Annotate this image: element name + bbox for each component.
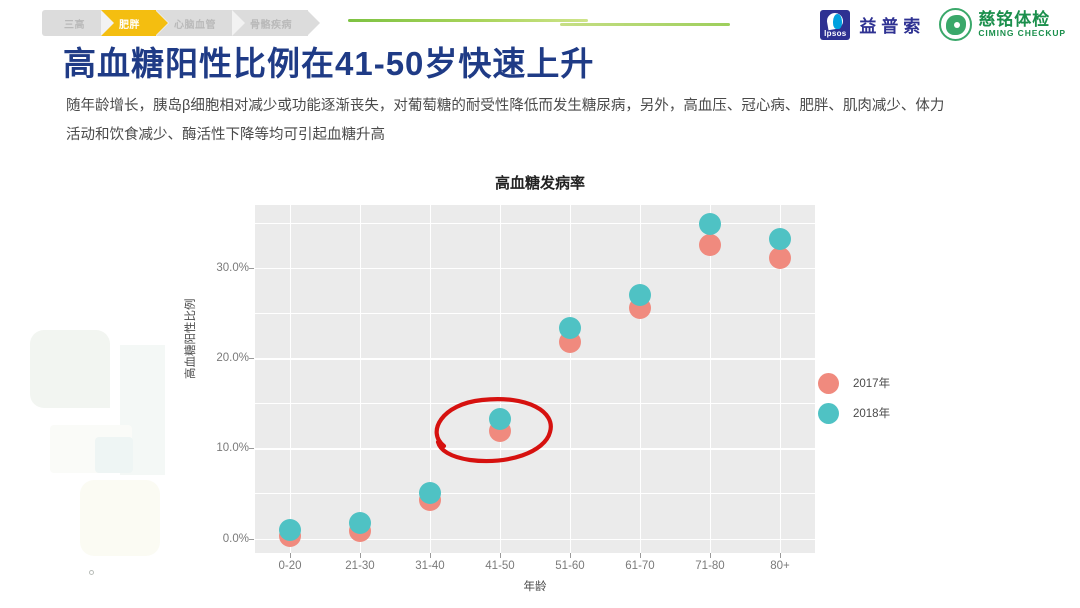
- chart-y-axis-title: 高血糖阳性比例: [182, 299, 198, 380]
- chart-point: [769, 228, 791, 250]
- chart-point: [559, 317, 581, 339]
- breadcrumb-green-tail: [348, 19, 588, 22]
- chart-x-tick-mark: [290, 553, 291, 558]
- ciming-text-block: 慈铭体检 CIMING CHECKUP: [978, 11, 1066, 38]
- chart-x-tick-mark: [500, 553, 501, 558]
- watermark-shape-1: [30, 330, 110, 408]
- slide-canvas: 三高 肥胖 心脑血管 骨骼疾病 Ipsos 益普索 慈铭体检 CIMING CH…: [0, 0, 1080, 608]
- chart-x-axis-title: 年龄: [255, 578, 815, 594]
- chart-y-tick-label: 30.0%: [216, 262, 249, 274]
- chart-x-tick-label: 31-40: [415, 560, 444, 572]
- chart-y-tick-mark: [249, 268, 254, 269]
- chart-y-tick-label: 10.0%: [216, 442, 249, 454]
- chart-gridline-vertical: [290, 205, 291, 553]
- breadcrumb-item-sangao[interactable]: 三高: [42, 10, 101, 36]
- chart-x-tick-mark: [710, 553, 711, 558]
- chart-x-tick-mark: [640, 553, 641, 558]
- chart-legend: 2017年 2018年: [818, 368, 890, 428]
- chart-gridline-horizontal: [255, 448, 815, 449]
- legend-label-2018: 2018年: [853, 405, 890, 421]
- watermark-dot: [89, 570, 94, 575]
- chart-y-tick-mark: [249, 539, 254, 540]
- chart-gridline-horizontal: [255, 313, 815, 314]
- legend-label-2017: 2017年: [853, 375, 890, 391]
- chart-gridline-horizontal: [255, 539, 815, 540]
- chart-point: [699, 213, 721, 235]
- chart-y-tick-mark: [249, 358, 254, 359]
- chart-gridline-vertical: [710, 205, 711, 553]
- chart-gridline-horizontal: [255, 268, 815, 269]
- ipsos-mark-icon: Ipsos: [820, 10, 850, 40]
- chart-x-tick-label: 41-50: [485, 560, 514, 572]
- breadcrumb-item-feipang[interactable]: 肥胖: [101, 10, 156, 36]
- chart-point: [279, 519, 301, 541]
- watermark-shape-2: [50, 425, 132, 473]
- chart-gridline-vertical: [360, 205, 361, 553]
- chart-y-tick-mark: [249, 448, 254, 449]
- chart-x-tick-label: 51-60: [555, 560, 584, 572]
- chart-x-axis-labels: 0-2021-3031-4041-5051-6061-7071-8080+: [255, 560, 815, 578]
- breadcrumb-green-tail-2: [560, 23, 730, 26]
- legend-item-2017[interactable]: 2017年: [818, 368, 890, 398]
- chart-title: 高血糖发病率: [0, 172, 1080, 193]
- legend-swatch-2017: [818, 373, 839, 394]
- chart-point: [699, 234, 721, 256]
- chart-gridline-vertical: [570, 205, 571, 553]
- chart-gridline-horizontal: [255, 223, 815, 224]
- chart-y-tick-label: 0.0%: [223, 533, 249, 545]
- watermark-shape-4: [80, 480, 160, 556]
- chart-x-tick-label: 61-70: [625, 560, 654, 572]
- watermark-shape-5: [120, 345, 165, 475]
- chart-x-tick-label: 21-30: [345, 560, 374, 572]
- page-title: 高血糖阳性比例在41-50岁快速上升: [63, 37, 594, 85]
- chart-gridline-vertical: [640, 205, 641, 553]
- ciming-mark-icon: [939, 8, 972, 41]
- legend-swatch-2018: [818, 403, 839, 424]
- chart-gridline-vertical: [500, 205, 501, 553]
- chart-point: [349, 512, 371, 534]
- ipsos-petal-blue-icon: [833, 14, 842, 29]
- logo-bar: Ipsos 益普索 慈铭体检 CIMING CHECKUP: [820, 8, 1066, 41]
- ipsos-wordmark: Ipsos: [824, 29, 846, 38]
- ciming-logo: 慈铭体检 CIMING CHECKUP: [939, 8, 1066, 41]
- page-subtitle: 随年龄增长，胰岛β细胞相对减少或功能逐渐丧失，对葡萄糖的耐受性降低而发生糖尿病，…: [66, 92, 946, 150]
- chart-y-tick-label: 20.0%: [216, 352, 249, 364]
- chart-gridline-horizontal: [255, 493, 815, 494]
- chart-x-tick-label: 80+: [770, 560, 790, 572]
- breadcrumb-item-gugejibing[interactable]: 骨骼疾病: [232, 10, 308, 36]
- chart-x-tick-label: 0-20: [278, 560, 301, 572]
- chart-gridline-horizontal: [255, 403, 815, 404]
- chart-x-tick-mark: [360, 553, 361, 558]
- watermark-shape-3: [95, 437, 133, 473]
- chart-point: [629, 284, 651, 306]
- chart-y-axis-labels: 0.0%10.0%20.0%30.0%: [203, 205, 249, 553]
- chart-point: [769, 247, 791, 269]
- legend-item-2018[interactable]: 2018年: [818, 398, 890, 428]
- ipsos-chinese-name: 益普索: [859, 12, 925, 37]
- chart-point: [489, 408, 511, 430]
- chart-plot-area: [255, 205, 815, 553]
- chart-point: [419, 482, 441, 504]
- chart-x-tick-mark: [780, 553, 781, 558]
- ciming-english-name: CIMING CHECKUP: [978, 29, 1066, 38]
- chart-x-tick-mark: [430, 553, 431, 558]
- chart-x-tick-mark: [570, 553, 571, 558]
- ciming-chinese-name: 慈铭体检: [978, 11, 1066, 29]
- chart-gridline-horizontal: [255, 358, 815, 359]
- ipsos-logo: Ipsos 益普索: [820, 10, 925, 40]
- breadcrumb: 三高 肥胖 心脑血管 骨骼疾病: [42, 10, 308, 36]
- chart-x-tick-label: 71-80: [695, 560, 724, 572]
